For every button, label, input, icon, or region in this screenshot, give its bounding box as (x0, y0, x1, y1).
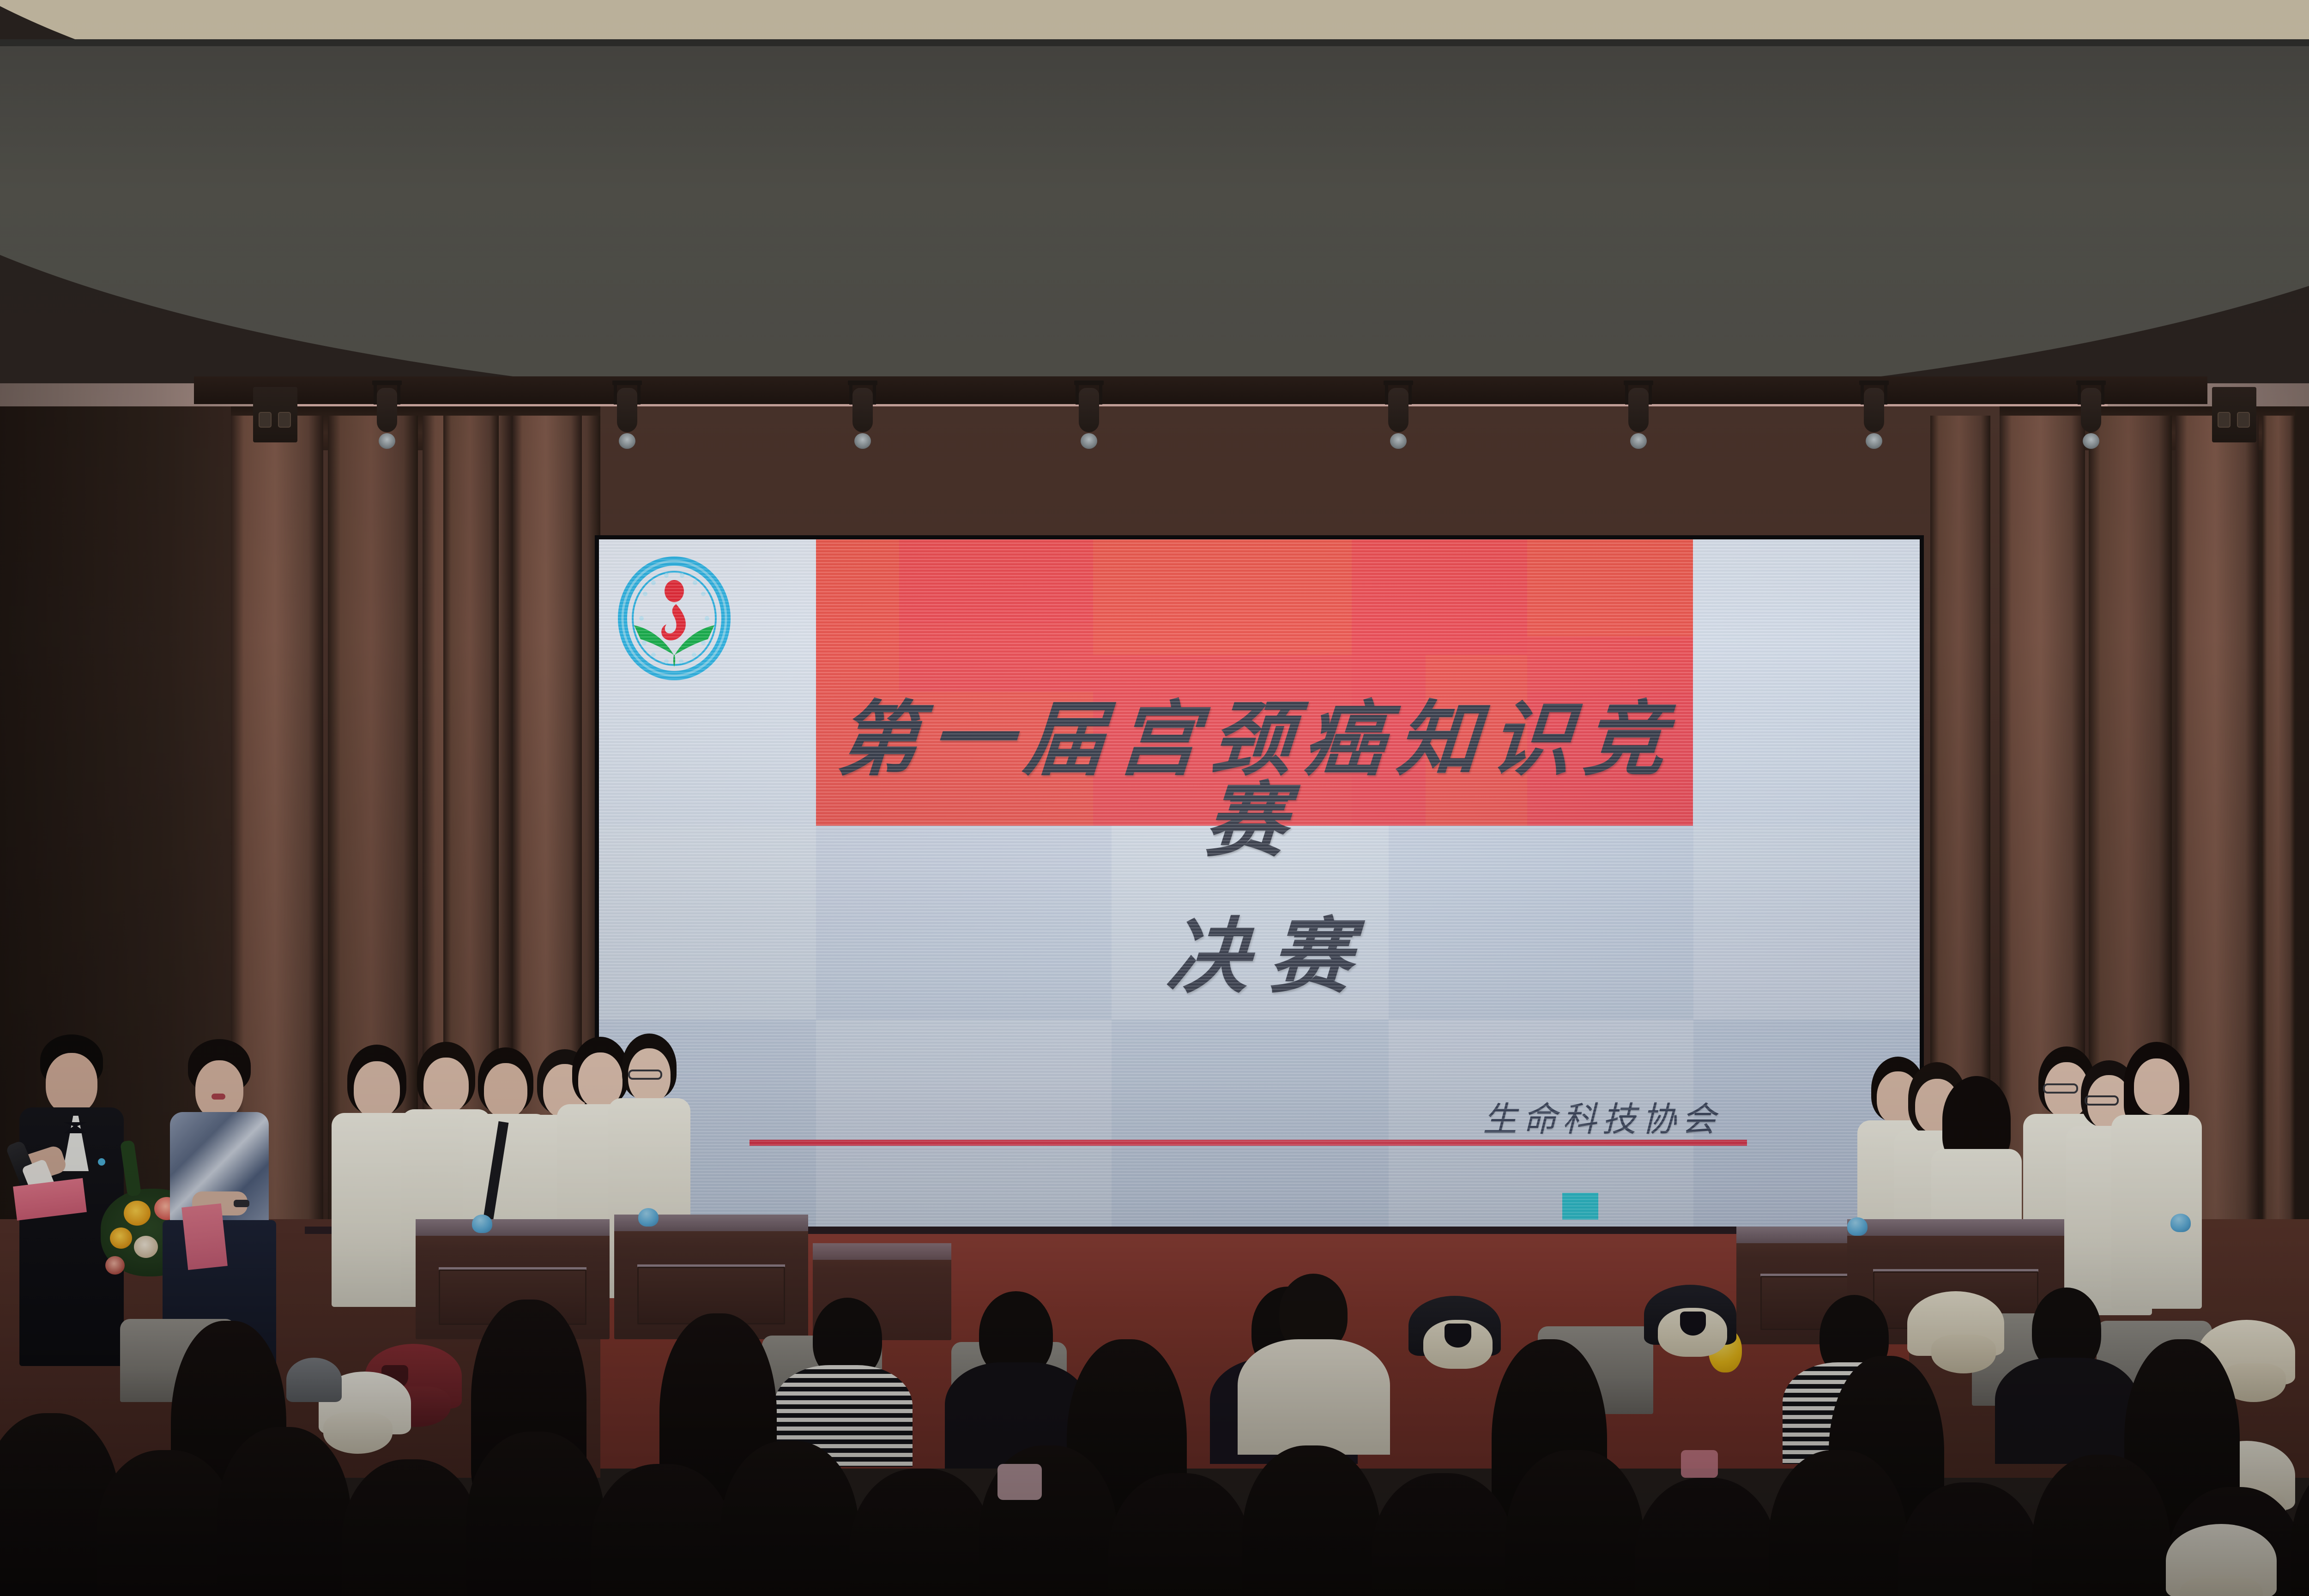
lighting-rail (194, 376, 2207, 404)
led-presentation-screen: 第一届宫颈癌知识竞赛 决赛 生命科技协会 (599, 539, 1920, 1232)
stage-light (1621, 381, 1656, 450)
audience-long-hair (1242, 1445, 1381, 1596)
baseball-cap (286, 1358, 342, 1402)
flower-cream (134, 1236, 158, 1258)
pink-object (997, 1464, 1042, 1500)
answer-buzzer[interactable] (2170, 1214, 2191, 1232)
host-head (46, 1053, 97, 1114)
stage-light (1071, 381, 1106, 450)
speaker-cone (259, 412, 272, 428)
speaker-cone (2218, 412, 2230, 428)
bouquet-stem (120, 1140, 141, 1197)
hostess-lips (212, 1094, 225, 1100)
slide-sub-title: 决赛 (599, 890, 1920, 1009)
contestant-head (354, 1061, 400, 1118)
audience-long-hair (1635, 1478, 1778, 1596)
stage-light (369, 381, 405, 450)
stage-light (2073, 381, 2109, 450)
stage-light (1381, 381, 1416, 450)
audience-long-hair (720, 1441, 859, 1596)
wood-slat (2262, 416, 2295, 1293)
stage-light (845, 381, 880, 450)
baseball-cap-brim (323, 1412, 393, 1454)
audience-shoulder (1995, 1358, 2138, 1464)
slide-organizer: 生命科技协会 (1483, 1092, 1721, 1141)
audience-long-hair (97, 1450, 236, 1596)
baseball-cap-brim (2180, 1576, 2263, 1596)
speaker-box (253, 387, 297, 442)
wristwatch (234, 1200, 249, 1207)
slide-red-underline (750, 1140, 1747, 1146)
life-science-association-logo (617, 556, 732, 681)
answer-buzzer[interactable] (1847, 1217, 1868, 1236)
audience-long-hair (342, 1459, 480, 1596)
stage-light (1856, 381, 1892, 450)
speaker-cone (278, 412, 291, 428)
auditorium-stage-photo: 第一届宫颈癌知识竞赛 决赛 生命科技协会 (0, 0, 2309, 1596)
cap-closure-gap (1445, 1324, 1471, 1348)
stage-light (610, 381, 645, 450)
answer-buzzer[interactable] (638, 1208, 659, 1227)
eyeglasses (628, 1070, 662, 1080)
audience-long-hair (850, 1469, 993, 1596)
sunflower (110, 1227, 132, 1249)
slide-cyan-chip (1562, 1193, 1598, 1220)
audience-white-hoodie (1238, 1339, 1390, 1455)
cap-closure-gap (1680, 1312, 1706, 1336)
contestant-head (2134, 1058, 2179, 1115)
slide-main-title: 第一届宫颈癌知识竞赛 (810, 700, 1699, 863)
speaker-cone (2237, 412, 2250, 428)
sunflower (124, 1201, 151, 1226)
answer-buzzer[interactable] (472, 1215, 492, 1233)
ceiling-acoustic-band (0, 46, 2309, 416)
audience (0, 1265, 2309, 1596)
audience-long-hair (217, 1427, 351, 1596)
audience-long-hair (466, 1432, 605, 1596)
speaker-box (2212, 387, 2256, 442)
hostess-head (195, 1060, 243, 1118)
cue-card (181, 1203, 228, 1270)
baseball-cap-brim (1931, 1335, 1996, 1373)
pink-object (1681, 1450, 1718, 1478)
